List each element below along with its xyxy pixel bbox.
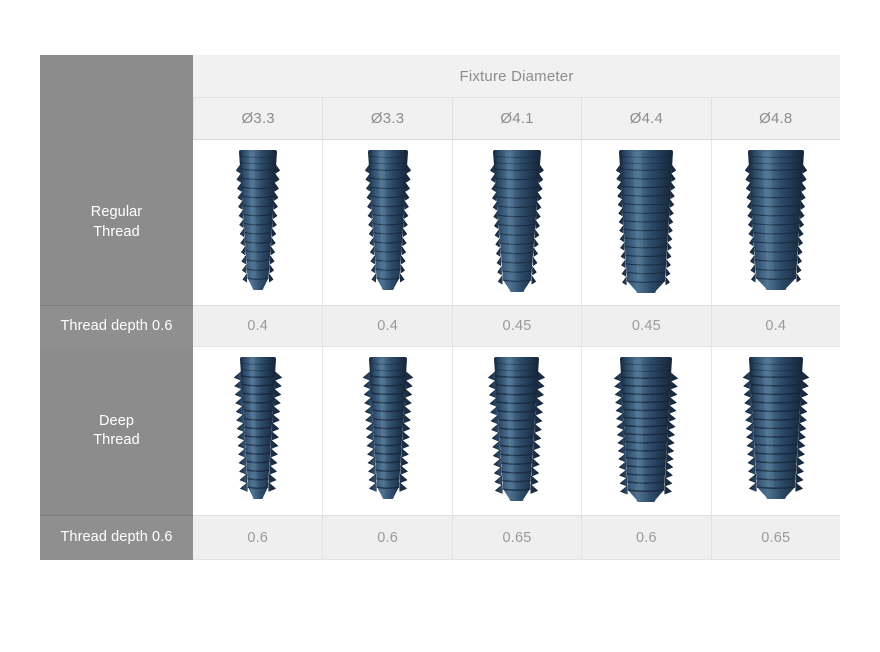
header-diameter-1: Ø3.3 [322,98,451,140]
header-fixture-diameter-label: Fixture Diameter [459,68,573,85]
row-label-line-2: Thread [93,431,140,450]
value-text: 0.4 [247,318,268,334]
header-diameter-4: Ø4.8 [711,98,840,140]
table-corner-cell-lower [40,98,193,140]
thread-depth-value-regular-4: 0.4 [711,305,840,347]
implant-regular-3-3-a [231,146,285,294]
thread-depth-value-deep-1: 0.6 [322,515,451,560]
thread-depth-value-regular-3: 0.45 [581,305,710,347]
implant-regular-3-3-b [360,146,416,294]
header-diameter-0: Ø3.3 [193,98,322,140]
value-text: 0.6 [636,530,657,546]
value-text: 0.4 [377,318,398,334]
thread-depth-value-deep-0: 0.6 [193,515,322,560]
diameter-label: Ø4.8 [759,110,792,127]
value-text: 0.45 [632,318,661,334]
implant-cell-deep-0 [193,347,322,515]
row-label-deep-thread: Deep Thread [40,347,193,515]
row-label-deep-thread-depth: Thread depth 0.6 [40,515,193,560]
thread-depth-label: Thread depth 0.6 [60,317,172,336]
implant-deep-4-4 [609,353,683,506]
implant-cell-deep-2 [452,347,581,515]
diameter-label: Ø4.1 [500,110,533,127]
implant-deep-4-8 [738,353,814,503]
header-diameter-3: Ø4.4 [581,98,710,140]
implant-cell-regular-2 [452,140,581,305]
row-label-line-1: Deep [93,412,140,431]
value-text: 0.6 [247,530,268,546]
implant-cell-regular-0 [193,140,322,305]
thread-depth-value-deep-4: 0.65 [711,515,840,560]
table-corner-cell [40,55,193,98]
row-label-line-1: Regular [91,203,142,222]
implant-cell-regular-4 [711,140,840,305]
implant-deep-3-3-b [358,353,418,503]
row-label-regular-thread-depth: Thread depth 0.6 [40,305,193,347]
diameter-label: Ø3.3 [371,110,404,127]
implant-cell-regular-1 [322,140,451,305]
thread-depth-value-regular-2: 0.45 [452,305,581,347]
diameter-label: Ø3.3 [242,110,275,127]
diameter-label: Ø4.4 [630,110,663,127]
thread-depth-value-deep-3: 0.6 [581,515,710,560]
implant-cell-deep-4 [711,347,840,515]
implant-cell-deep-1 [322,347,451,515]
value-text: 0.6 [377,530,398,546]
implant-regular-4-4 [611,146,681,297]
implant-regular-4-1 [485,146,549,296]
implant-comparison-figure: Fixture Diameter Ø3.3 Ø3.3 Ø4.1 Ø4.4 Ø4.… [0,0,880,652]
value-text: 0.4 [765,318,786,334]
value-text: 0.45 [502,318,531,334]
thread-depth-label: Thread depth 0.6 [60,528,172,547]
implant-cell-regular-3 [581,140,710,305]
implant-deep-4-1 [483,353,550,505]
header-diameter-2: Ø4.1 [452,98,581,140]
header-fixture-diameter: Fixture Diameter [193,55,840,98]
thread-depth-value-regular-0: 0.4 [193,305,322,347]
value-text: 0.65 [502,530,531,546]
implant-regular-4-8 [740,146,812,294]
implant-deep-3-3-a [229,353,287,503]
value-text: 0.65 [761,530,790,546]
thread-depth-value-deep-2: 0.65 [452,515,581,560]
implant-cell-deep-3 [581,347,710,515]
thread-depth-value-regular-1: 0.4 [322,305,451,347]
row-label-regular-thread: Regular Thread [40,140,193,305]
implant-comparison-table: Fixture Diameter Ø3.3 Ø3.3 Ø4.1 Ø4.4 Ø4.… [40,55,840,560]
row-label-line-2: Thread [91,223,142,242]
